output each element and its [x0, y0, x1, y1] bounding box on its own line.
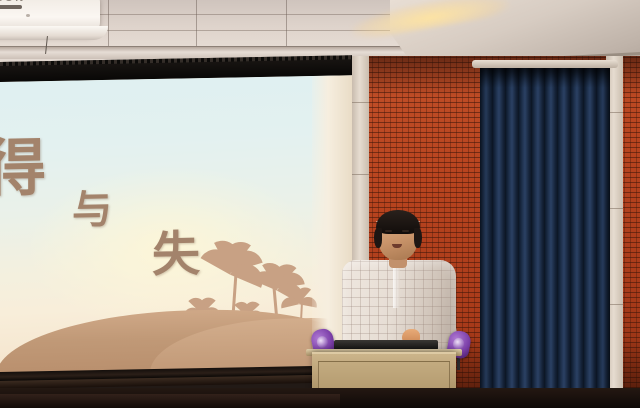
ceiling-seam	[108, 0, 109, 46]
ceiling-seam	[286, 0, 287, 46]
slide-surface: 得 与 失	[0, 75, 352, 374]
pilaster-seam	[352, 102, 369, 103]
lecture-hall-photo: PSON	[0, 0, 640, 408]
pilaster-seam	[352, 174, 369, 175]
curtain-rod	[472, 60, 618, 68]
slide-character-de: 得	[0, 137, 46, 200]
projector-housing-lip	[0, 26, 108, 40]
presenter-hair-side	[414, 228, 422, 248]
presenter-eye	[385, 230, 392, 232]
curtain-top-shadow	[480, 66, 610, 88]
presenter-eye	[402, 230, 409, 232]
stage-curtain	[480, 66, 610, 408]
projection-screen: 得 与 失	[0, 55, 352, 388]
slide-character-yu: 与	[72, 190, 112, 231]
projector-vent	[0, 5, 22, 9]
projector-led	[26, 14, 30, 17]
projector-brand-label: PSON	[0, 0, 78, 4]
presenter	[340, 216, 458, 352]
slide-character-shi: 失	[152, 230, 200, 279]
presenter-hair-side	[374, 228, 382, 248]
ceiling-seam	[196, 0, 197, 46]
floor-shadow-left	[0, 394, 340, 408]
